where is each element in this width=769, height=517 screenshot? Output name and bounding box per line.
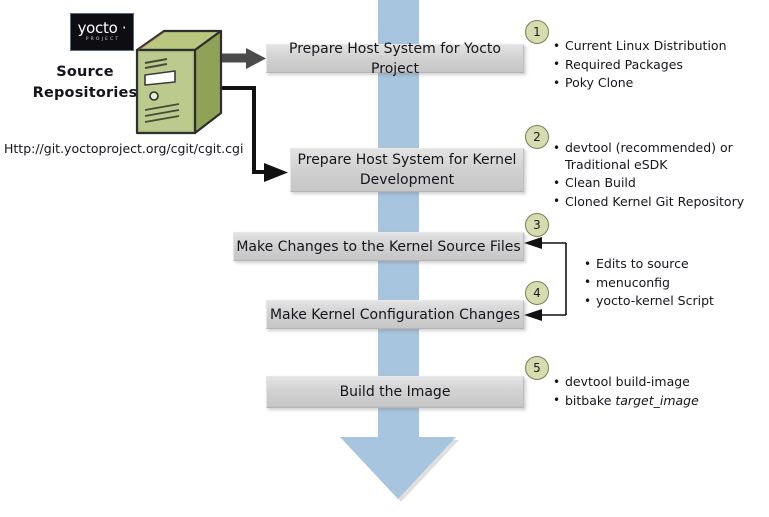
list-item: yocto-kernel Script	[584, 293, 764, 310]
process-box-step5[interactable]: Build the Image	[266, 376, 524, 408]
arrow-server-to-step2	[222, 88, 288, 182]
flow-arrow-head-icon	[340, 437, 456, 499]
process-box-step5-label: Build the Image	[340, 382, 451, 402]
bullet-list-step1: Current Linux Distribution Required Pack…	[553, 38, 758, 94]
list-item-text: devtool build-image	[565, 374, 690, 389]
source-repositories-label: Source Repositories	[24, 62, 146, 104]
process-box-step4-label: Make Kernel Configuration Changes	[270, 305, 520, 325]
process-box-step3-label: Make Changes to the Kernel Source Files	[236, 237, 520, 257]
list-item-text: bitbake	[565, 393, 615, 408]
process-box-step2-line1: Prepare Host System for Kernel	[298, 152, 517, 168]
yocto-project-logo: yocto · PROJECT	[70, 13, 134, 51]
process-box-step2-label: Prepare Host System for Kernel Developme…	[298, 150, 517, 190]
list-item: devtool (recommended) or Traditional eSD…	[553, 140, 758, 173]
step-badge-4: 4	[525, 281, 549, 305]
list-item: Current Linux Distribution	[553, 38, 758, 55]
process-box-step3[interactable]: Make Changes to the Kernel Source Files	[233, 232, 524, 261]
bullet-list-step5: devtool build-image bitbake target_image	[553, 374, 758, 411]
process-box-step4[interactable]: Make Kernel Configuration Changes	[266, 300, 524, 329]
process-box-step2[interactable]: Prepare Host System for Kernel Developme…	[290, 148, 524, 192]
source-label-line2: Repositories	[24, 83, 146, 104]
process-box-step2-line2: Development	[360, 172, 454, 188]
process-box-step1-label: Prepare Host System for Yocto Project	[267, 39, 523, 79]
bullet-list-step3-step4-shared: Edits to source menuconfig yocto-kernel …	[584, 256, 764, 312]
list-item: menuconfig	[584, 275, 764, 292]
list-item: Cloned Kernel Git Repository	[553, 194, 758, 211]
step-badge-5: 5	[525, 356, 549, 380]
server-tower-icon	[133, 28, 225, 140]
list-item-emphasis: target_image	[615, 393, 698, 408]
yocto-logo-subtext: PROJECT	[86, 38, 121, 43]
bracket-connector-step3-step4	[524, 237, 566, 321]
list-item: Poky Clone	[553, 75, 758, 92]
step-badge-3: 3	[525, 213, 549, 237]
source-label-line1: Source	[24, 62, 146, 83]
list-item: Required Packages	[553, 57, 758, 74]
arrow-server-to-step1	[222, 48, 266, 69]
list-item: devtool build-image	[553, 374, 758, 391]
bullet-list-step2: devtool (recommended) or Traditional eSD…	[553, 140, 758, 212]
step-badge-1: 1	[525, 20, 549, 44]
repository-url-text: Http://git.yoctoproject.org/cgit/cgit.cg…	[4, 141, 243, 156]
step-badge-2: 2	[525, 125, 549, 149]
list-item: Edits to source	[584, 256, 764, 273]
yocto-logo-wordmark: yocto ·	[78, 21, 127, 36]
list-item: bitbake target_image	[553, 393, 758, 410]
process-box-step1[interactable]: Prepare Host System for Yocto Project	[266, 44, 524, 73]
list-item: Clean Build	[553, 175, 758, 192]
